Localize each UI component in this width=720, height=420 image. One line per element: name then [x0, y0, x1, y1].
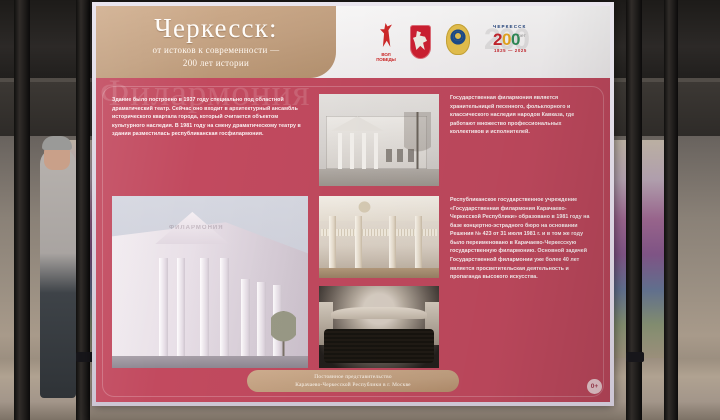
fence-bar-4: [664, 0, 678, 420]
fence-clamp-2: [626, 352, 644, 362]
subtitle-line-2: 200 лет истории: [183, 58, 249, 68]
chandelier: [355, 201, 374, 216]
title-plaque: Черкесск: от истоков к современности — 2…: [96, 6, 336, 78]
right-photo-stack: [319, 196, 439, 368]
volunteers-of-victory-icon: ВОЛ ПОБЕДЫ: [376, 22, 396, 62]
paragraph-institution: Республиканское государственное учрежден…: [450, 196, 596, 368]
anniversary-digit-1: 2: [493, 30, 502, 49]
banner-header: Черкесск: от истоков к современности — 2…: [96, 6, 610, 84]
logo-strip: ВОЛ ПОБЕДЫ 200 ЧЕРКЕССК 200 лет: [344, 6, 610, 78]
paragraph-history: Здание было построено в 1937 году специа…: [112, 94, 308, 186]
exhibition-banner: Черкесск: от истоков к современности — 2…: [96, 6, 610, 402]
banner-body: Филармония Здание было построено в 1937 …: [96, 84, 610, 368]
content-grid: Здание было построено в 1937 году специа…: [112, 94, 596, 368]
pedestrian-cap: [42, 136, 72, 150]
anniversary-unit-label: лет: [518, 33, 526, 38]
moscow-coat-of-arms-icon: [409, 22, 432, 62]
paragraph-heritage: Государственная филармония является хран…: [450, 94, 596, 186]
footer-plaque: Постоянное представительство Карачаево-Ч…: [247, 370, 459, 392]
anniversary-city-label: ЧЕРКЕССК: [493, 24, 526, 29]
photo-concert-hall: [319, 286, 439, 368]
photo-historic-theatre-bw: [319, 94, 439, 186]
photo-philharmonic-facade-color: ФИЛАРМОНИЯ: [112, 196, 308, 368]
subtitle-line-1: от истоков к современности —: [153, 45, 280, 55]
victory-figure-shape: [380, 23, 392, 47]
photo-lobby-interior: [319, 196, 439, 278]
cherkessk-200-anniversary-icon: 200 ЧЕРКЕССК 200 лет 1825 — 2025: [484, 21, 542, 63]
fence-bar-1: [14, 0, 30, 420]
banner-footer: Постоянное представительство Карачаево-Ч…: [96, 368, 610, 398]
karachay-cherkessia-emblem-icon: [445, 22, 471, 62]
facade-lettering: ФИЛАРМОНИЯ: [163, 225, 230, 239]
page-title: Черкесск:: [154, 15, 278, 42]
footer-line-1: Постоянное представительство: [314, 373, 391, 381]
emblem-crest-shape: [453, 31, 463, 41]
footer-line-2: Карачаево-Черкесской Республики в г. Мос…: [295, 381, 411, 389]
anniversary-years-label: 1825 — 2025: [494, 48, 527, 53]
exhibition-banner-frame: Черкесск: от истоков к современности — 2…: [92, 2, 614, 406]
anniversary-digit-2: 0: [502, 30, 511, 49]
page-subtitle: от истоков к современности — 200 лет ист…: [153, 44, 280, 68]
age-rating-badge: 0+: [587, 379, 602, 394]
volunteers-caption-2: ПОБЕДЫ: [376, 57, 395, 62]
pedestrian-body: [40, 148, 76, 398]
